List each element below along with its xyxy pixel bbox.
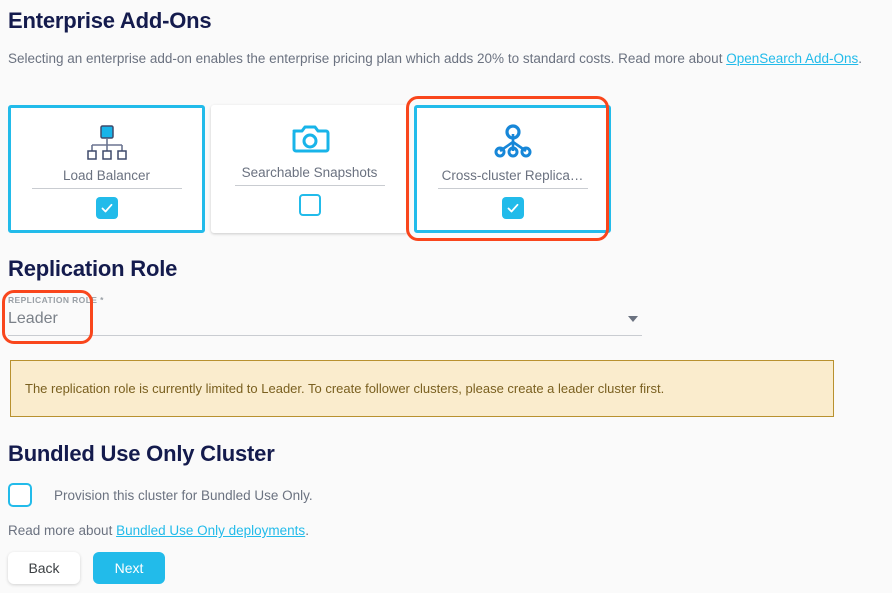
addon-card-load-balancer[interactable]: Load Balancer — [8, 105, 205, 233]
bundled-use-only-checkbox[interactable] — [8, 483, 32, 507]
addon-checkbox-load-balancer[interactable] — [96, 197, 118, 219]
warning-message: The replication role is currently limite… — [25, 381, 664, 396]
bundled-readmore-before: Read more about — [8, 523, 116, 538]
bundled-readmore-after: . — [305, 523, 309, 538]
addons-description-text-before: Selecting an enterprise add-on enables t… — [8, 51, 726, 66]
next-button[interactable]: Next — [93, 552, 165, 584]
replication-role-label: REPLICATION ROLE * — [8, 294, 642, 306]
bundled-use-only-title: Bundled Use Only Cluster — [8, 441, 275, 467]
opensearch-addons-link[interactable]: OpenSearch Add-Ons — [726, 51, 858, 66]
replication-role-title: Replication Role — [8, 256, 177, 282]
cluster-replication-icon — [492, 116, 534, 168]
wizard-button-row: Back Next — [8, 552, 165, 584]
chevron-down-icon[interactable] — [628, 316, 638, 322]
bundled-deployments-link[interactable]: Bundled Use Only deployments — [116, 523, 305, 538]
addon-card-list: Load Balancer Searchable Snapshots — [8, 105, 617, 233]
back-button[interactable]: Back — [8, 552, 80, 584]
addon-card-label: Searchable Snapshots — [235, 165, 385, 186]
addon-card-searchable-snapshots[interactable]: Searchable Snapshots — [211, 105, 408, 233]
bundled-readmore: Read more about Bundled Use Only deploym… — [8, 523, 309, 538]
replication-warning-banner: The replication role is currently limite… — [10, 360, 834, 417]
addons-description: Selecting an enterprise add-on enables t… — [8, 48, 886, 69]
addons-description-text-after: . — [858, 51, 862, 66]
addon-checkbox-cross-cluster-replication[interactable] — [502, 197, 524, 219]
replication-role-select[interactable]: REPLICATION ROLE * Leader — [8, 294, 642, 336]
bundled-use-only-row: Provision this cluster for Bundled Use O… — [8, 483, 313, 507]
addon-card-label: Cross-cluster Replica… — [438, 168, 588, 189]
addon-card-label: Load Balancer — [32, 168, 182, 189]
replication-role-value: Leader — [8, 306, 58, 332]
camera-icon — [290, 113, 330, 165]
page-title: Enterprise Add-Ons — [8, 8, 211, 34]
addon-checkbox-searchable-snapshots[interactable] — [299, 194, 321, 216]
hierarchy-icon — [84, 116, 130, 168]
enterprise-addons-page: Enterprise Add-Ons Selecting an enterpri… — [0, 0, 892, 593]
bundled-use-only-label: Provision this cluster for Bundled Use O… — [54, 488, 313, 503]
addon-card-cross-cluster-replication[interactable]: Cross-cluster Replica… — [414, 105, 611, 233]
